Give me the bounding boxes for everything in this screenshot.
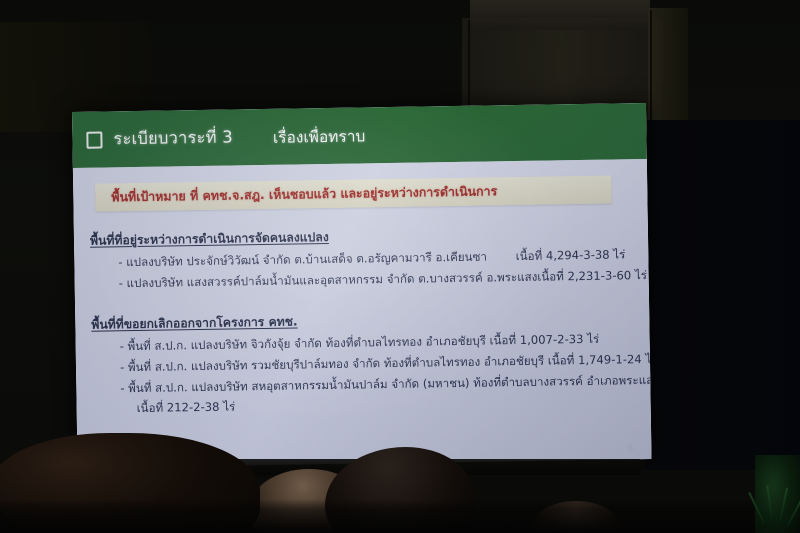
agenda-label: ระเบียบวาระที่ 3 xyxy=(113,124,233,152)
projection-screen: ระเบียบวาระที่ 3 เรื่องเพื่อทราบ พื้นที่… xyxy=(72,103,652,468)
conference-room-photo: ระเบียบวาระที่ 3 เรื่องเพื่อทราบ พื้นที่… xyxy=(0,0,800,533)
list-item-text: - แปลงบริษัท ประจักษ์วิวัฒน์ จำกัด ต.บ้า… xyxy=(118,249,487,273)
potted-plant xyxy=(755,455,800,533)
list-item-area: เนื้อที่ 2,231-3-60 ไร่ xyxy=(537,267,651,287)
slide-header: ระเบียบวาระที่ 3 เรื่องเพื่อทราบ xyxy=(72,103,647,168)
list-item-area: เนื้อที่ 4,294-3-38 ไร่ xyxy=(516,246,636,266)
screen-surface: ระเบียบวาระที่ 3 เรื่องเพื่อทราบ พื้นที่… xyxy=(72,103,652,468)
slide-body: พื้นที่เป้าหมาย ที่ คทช.จ.สฎ. เห็นชอบแล้… xyxy=(73,159,652,468)
section-cancellation-requests: พื้นที่ที่ขอยกเลิกออกจากโครงการ คทช. - พ… xyxy=(91,307,638,419)
presentation-slide: ระเบียบวาระที่ 3 เรื่องเพื่อทราบ พื้นที่… xyxy=(72,103,652,468)
wall-cornice xyxy=(470,0,650,30)
highlight-band: พื้นที่เป้าหมาย ที่ คทช.จ.สฎ. เห็นชอบแล้… xyxy=(95,176,611,212)
wall-right-dark xyxy=(645,120,800,470)
slide-page-number: 8 xyxy=(628,444,633,453)
list-item-text: - แปลงบริษัท แสงสวรรค์ปาล์มน้ำมันและอุตส… xyxy=(119,269,538,294)
section-in-progress: พื้นที่ที่อยู่ระหว่างการดำเนินการจัดคนลง… xyxy=(90,223,636,294)
wall-pilaster xyxy=(648,8,688,128)
agenda-topic: เรื่องเพื่อทราบ xyxy=(273,123,366,149)
highlight-band-text: พื้นที่เป้าหมาย ที่ คทช.จ.สฎ. เห็นชอบแล้… xyxy=(111,182,497,207)
checkbox-square-icon xyxy=(86,131,102,148)
wall-seam-right xyxy=(650,10,652,125)
